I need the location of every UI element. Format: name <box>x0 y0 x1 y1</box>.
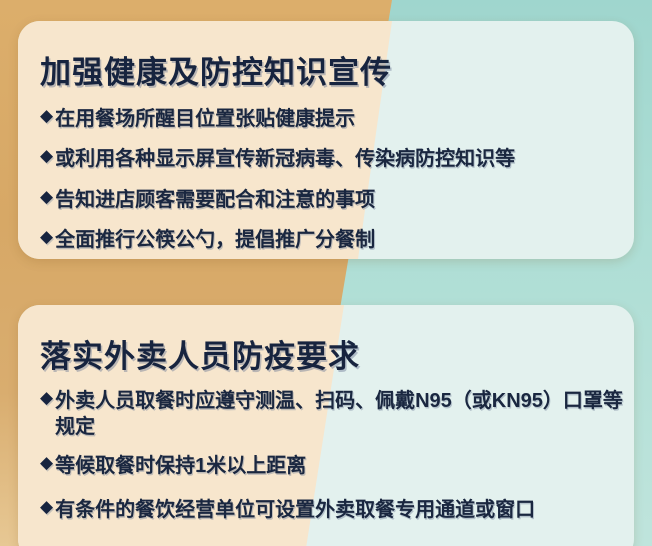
list-item-text: 或利用各种显示屏宣传新冠病毒、传染病防控知识等 <box>55 146 634 172</box>
card-health-bullet-list: ◆ 在用餐场所醒目位置张贴健康提示 ◆ 或利用各种显示屏宣传新冠病毒、传染病防控… <box>18 92 634 254</box>
list-item-text: 外卖人员取餐时应遵守测温、扫码、佩戴N95（或KN95）口罩等规定 <box>55 388 634 441</box>
card-health-title: 加强健康及防控知识宣传 <box>18 21 634 92</box>
diamond-bullet-icon: ◆ <box>40 146 53 166</box>
list-item: ◆ 或利用各种显示屏宣传新冠病毒、传染病防控知识等 <box>40 146 634 172</box>
card-delivery-bullet-list: ◆ 外卖人员取餐时应遵守测温、扫码、佩戴N95（或KN95）口罩等规定 ◆ 等候… <box>18 376 634 524</box>
list-item: ◆ 外卖人员取餐时应遵守测温、扫码、佩戴N95（或KN95）口罩等规定 <box>40 388 634 441</box>
card-health-promotion: 加强健康及防控知识宣传 ◆ 在用餐场所醒目位置张贴健康提示 ◆ 或利用各种显示屏… <box>18 21 634 259</box>
card-delivery-title: 落实外卖人员防疫要求 <box>18 305 634 376</box>
diamond-bullet-icon: ◆ <box>40 453 53 473</box>
diamond-bullet-icon: ◆ <box>40 227 53 247</box>
list-item: ◆ 等候取餐时保持1米以上距离 <box>40 453 634 479</box>
poster-canvas: 加强健康及防控知识宣传 ◆ 在用餐场所醒目位置张贴健康提示 ◆ 或利用各种显示屏… <box>0 0 652 546</box>
diamond-bullet-icon: ◆ <box>40 106 53 126</box>
list-item-text: 等候取餐时保持1米以上距离 <box>55 453 634 479</box>
diamond-bullet-icon: ◆ <box>40 187 53 207</box>
card-delivery-requirements: 落实外卖人员防疫要求 ◆ 外卖人员取餐时应遵守测温、扫码、佩戴N95（或KN95… <box>18 305 634 546</box>
list-item-text: 在用餐场所醒目位置张贴健康提示 <box>55 106 634 132</box>
list-item: ◆ 在用餐场所醒目位置张贴健康提示 <box>40 106 634 132</box>
list-item-text: 全面推行公筷公勺，提倡推广分餐制 <box>55 227 634 253</box>
card-delivery-content: 落实外卖人员防疫要求 ◆ 外卖人员取餐时应遵守测温、扫码、佩戴N95（或KN95… <box>18 305 634 524</box>
diamond-bullet-icon: ◆ <box>40 497 53 517</box>
list-item: ◆ 全面推行公筷公勺，提倡推广分餐制 <box>40 227 634 253</box>
card-health-content: 加强健康及防控知识宣传 ◆ 在用餐场所醒目位置张贴健康提示 ◆ 或利用各种显示屏… <box>18 21 634 254</box>
list-item-text: 有条件的餐饮经营单位可设置外卖取餐专用通道或窗口 <box>55 497 634 523</box>
diamond-bullet-icon: ◆ <box>40 388 53 408</box>
list-item-text: 告知进店顾客需要配合和注意的事项 <box>55 187 634 213</box>
list-item: ◆ 有条件的餐饮经营单位可设置外卖取餐专用通道或窗口 <box>40 497 634 523</box>
list-item: ◆ 告知进店顾客需要配合和注意的事项 <box>40 187 634 213</box>
